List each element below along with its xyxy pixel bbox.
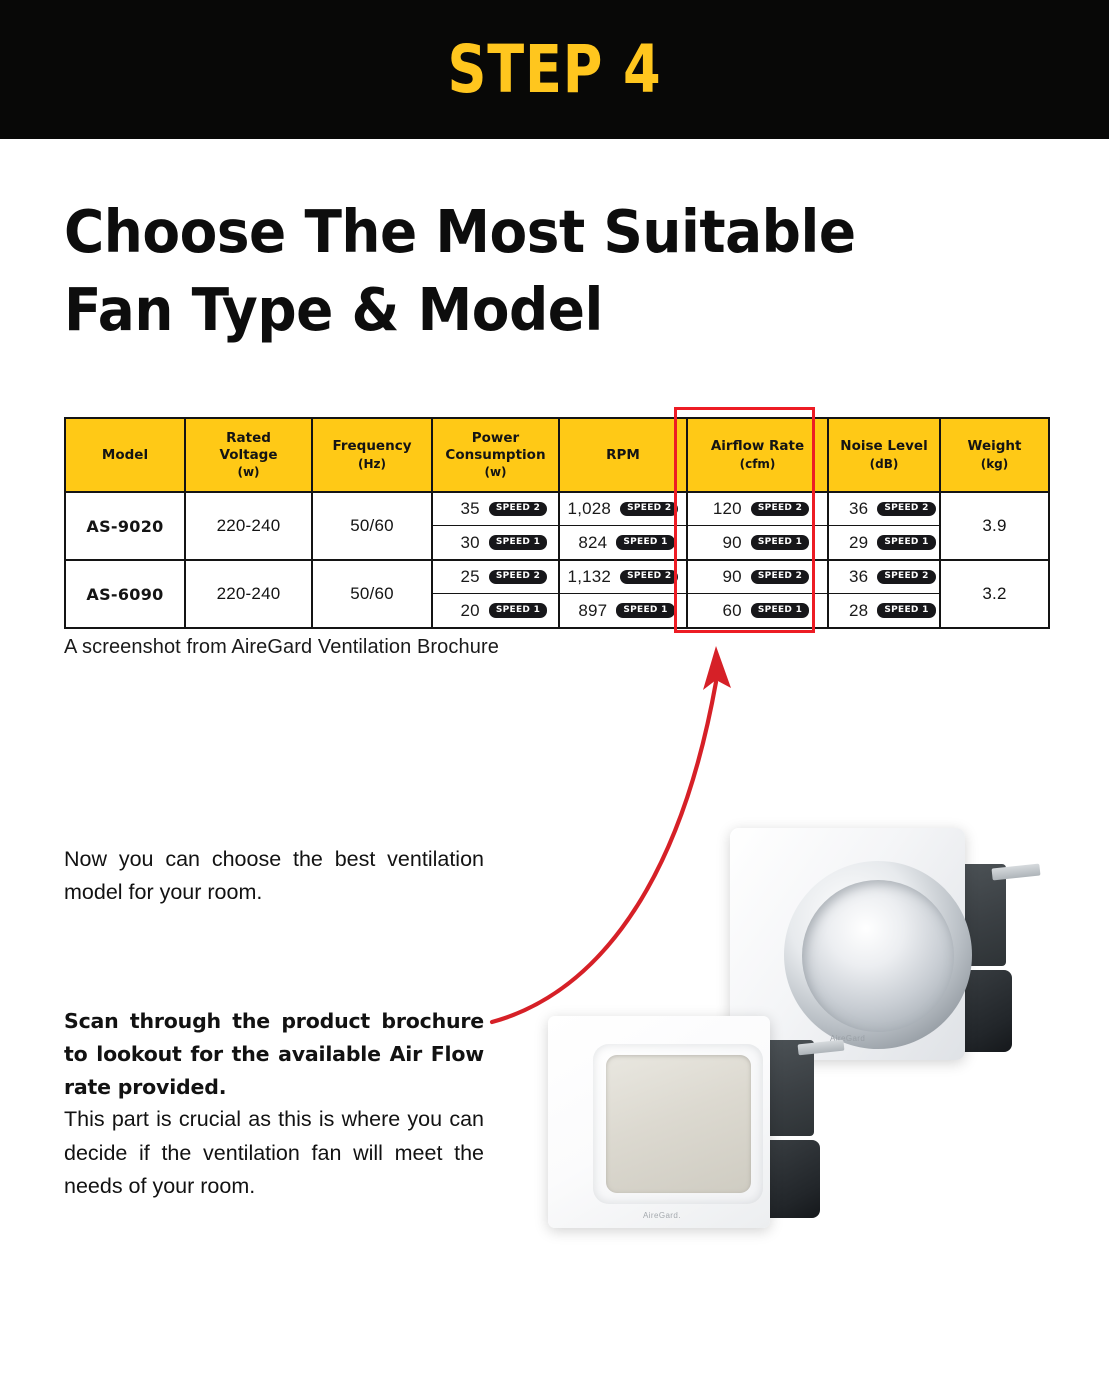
column-header-rated-voltage-l2: Voltage [220,447,278,463]
speed-badge: SPEED 1 [877,535,935,550]
page-title-line-1: Choose The Most Suitable [64,193,957,271]
column-header-weight-unit: (kg) [944,457,1045,472]
noise-level-speed-row: 36SPEED 2 [829,493,939,526]
speed-badge: SPEED 2 [489,570,547,585]
cell-weight: 3.9 [940,492,1049,560]
cell-power-consumption: 35SPEED 230SPEED 1 [432,492,559,560]
column-header-rated-voltage-l1: Rated [226,430,271,446]
power-consumption-speed-row: 25SPEED 2 [433,561,558,594]
column-header-noise-level: Noise Level (dB) [828,418,940,492]
cell-frequency: 50/60 [312,492,432,560]
speed-badge: SPEED 1 [616,535,674,550]
airflow-rate-value: 120 [706,499,742,519]
step-banner: STEP 4 [0,0,1109,139]
paragraph-instruction-rest: This part is crucial as this is where yo… [64,1103,484,1203]
column-header-weight: Weight (kg) [940,418,1049,492]
power-consumption-value: 25 [444,567,480,587]
column-header-rated-voltage: Rated Voltage (w) [185,418,312,492]
power-consumption-speed-row: 30SPEED 1 [433,526,558,559]
brochure-page: STEP 4 Choose The Most Suitable Fan Type… [0,0,1109,1379]
column-header-noise-level-title: Noise Level [840,438,927,454]
column-header-rated-voltage-unit: (w) [189,465,308,480]
power-consumption-speed-row: 20SPEED 1 [433,594,558,627]
spec-table-container: Model Rated Voltage (w) Frequency (Hz) P… [64,417,1048,629]
cell-power-consumption: 25SPEED 220SPEED 1 [432,560,559,628]
copy-block-instruction: Scan through the product brochure to loo… [64,1005,484,1203]
column-header-airflow-rate-title: Airflow Rate [711,438,804,454]
noise-level-value: 36 [832,499,868,519]
cell-noise-level: 36SPEED 229SPEED 1 [828,492,940,560]
rpm-speed-row: 1,028SPEED 2 [560,493,686,526]
speed-badge: SPEED 2 [620,502,678,517]
speed-badge: SPEED 2 [877,502,935,517]
column-header-power-consumption-l1: Power [472,430,519,446]
rpm-value: 1,132 [568,567,612,587]
rpm-speed-row: 1,132SPEED 2 [560,561,686,594]
column-header-airflow-rate-unit: (cfm) [691,457,824,472]
column-header-model: Model [65,418,185,492]
speed-badge: SPEED 1 [877,603,935,618]
speed-badge: SPEED 2 [751,502,809,517]
rpm-value: 897 [571,601,607,621]
column-header-power-consumption-l2: Consumption [445,447,545,463]
airflow-rate-value: 90 [706,567,742,587]
airflow-rate-speed-row: 60SPEED 1 [688,594,827,627]
product-image-square-fan: AireGard. [530,1008,850,1276]
copy-block-intro: Now you can choose the best ventilation … [64,843,484,910]
column-header-power-consumption-unit: (w) [436,465,555,480]
page-title-line-2: Fan Type & Model [64,271,957,349]
speed-badge: SPEED 1 [489,535,547,550]
column-header-airflow-rate: Airflow Rate (cfm) [687,418,828,492]
speed-badge: SPEED 1 [751,535,809,550]
cell-rpm: 1,132SPEED 2897SPEED 1 [559,560,687,628]
paragraph-intro: Now you can choose the best ventilation … [64,843,484,910]
cell-airflow-rate: 90SPEED 260SPEED 1 [687,560,828,628]
page-title: Choose The Most Suitable Fan Type & Mode… [64,193,957,350]
airflow-rate-speed-row: 90SPEED 1 [688,526,827,559]
column-header-model-title: Model [102,447,148,463]
cell-rated-voltage: 220-240 [185,492,312,560]
speed-badge: SPEED 2 [751,570,809,585]
table-row: AS-6090220-24050/6025SPEED 220SPEED 11,1… [65,560,1049,628]
airflow-rate-value: 90 [706,533,742,553]
cell-rpm: 1,028SPEED 2824SPEED 1 [559,492,687,560]
speed-badge: SPEED 2 [877,570,935,585]
noise-level-speed-row: 36SPEED 2 [829,561,939,594]
column-header-weight-title: Weight [968,438,1022,454]
power-consumption-value: 35 [444,499,480,519]
noise-level-speed-row: 29SPEED 1 [829,526,939,559]
speed-badge: SPEED 1 [616,603,674,618]
column-header-noise-level-unit: (dB) [832,457,936,472]
table-caption: A screenshot from AireGard Ventilation B… [64,636,499,659]
step-label: STEP 4 [448,37,662,103]
power-consumption-value: 20 [444,601,480,621]
column-header-frequency-title: Frequency [332,438,411,454]
column-header-frequency-unit: (Hz) [316,457,428,472]
fan-grille-panel [606,1055,751,1193]
fan-faceplate-square: AireGard. [548,1016,770,1228]
airflow-rate-value: 60 [706,601,742,621]
airflow-rate-speed-row: 120SPEED 2 [688,493,827,526]
cell-weight: 3.2 [940,560,1049,628]
table-body: AS-9020220-24050/6035SPEED 230SPEED 11,0… [65,492,1049,628]
column-header-frequency: Frequency (Hz) [312,418,432,492]
power-consumption-value: 30 [444,533,480,553]
rpm-value: 1,028 [568,499,612,519]
brand-logo-square-fan: AireGard. [643,1211,681,1220]
speed-badge: SPEED 2 [489,502,547,517]
cell-airflow-rate: 120SPEED 290SPEED 1 [687,492,828,560]
column-header-rpm: RPM [559,418,687,492]
rpm-speed-row: 824SPEED 1 [560,526,686,559]
airflow-rate-speed-row: 90SPEED 2 [688,561,827,594]
table-row: AS-9020220-24050/6035SPEED 230SPEED 11,0… [65,492,1049,560]
cell-model: AS-6090 [65,560,185,628]
rpm-value: 824 [571,533,607,553]
cell-rated-voltage: 220-240 [185,560,312,628]
noise-level-value: 28 [832,601,868,621]
cell-frequency: 50/60 [312,560,432,628]
noise-level-speed-row: 28SPEED 1 [829,594,939,627]
rpm-speed-row: 897SPEED 1 [560,594,686,627]
speed-badge: SPEED 1 [751,603,809,618]
table-header-row: Model Rated Voltage (w) Frequency (Hz) P… [65,418,1049,492]
speed-badge: SPEED 2 [620,570,678,585]
paragraph-instruction-bold: Scan through the product brochure to loo… [64,1005,484,1103]
column-header-rpm-title: RPM [606,447,640,463]
column-header-power-consumption: Power Consumption (w) [432,418,559,492]
cell-noise-level: 36SPEED 228SPEED 1 [828,560,940,628]
cell-model: AS-9020 [65,492,185,560]
noise-level-value: 36 [832,567,868,587]
speed-badge: SPEED 1 [489,603,547,618]
noise-level-value: 29 [832,533,868,553]
power-consumption-speed-row: 35SPEED 2 [433,493,558,526]
fan-spec-table: Model Rated Voltage (w) Frequency (Hz) P… [64,417,1050,629]
